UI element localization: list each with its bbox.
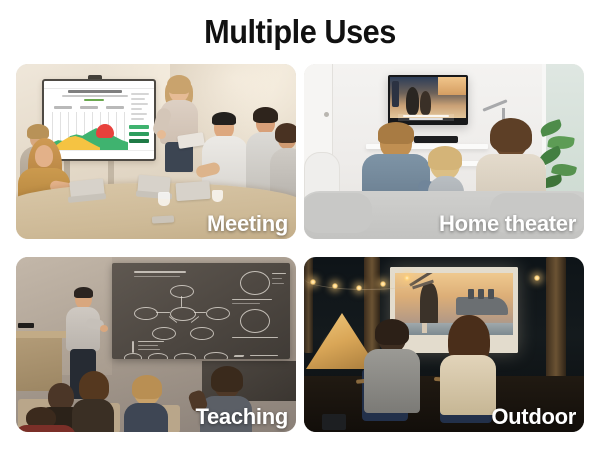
- panel-home-theater[interactable]: Home theater: [304, 64, 584, 239]
- lectern-device: [18, 323, 34, 328]
- student-5: [18, 407, 72, 432]
- lectern-top: [16, 331, 68, 338]
- mindmap-node-bottom-3: [174, 353, 196, 359]
- panel-meeting[interactable]: Meeting: [16, 64, 296, 239]
- mindmap-node-bl: [152, 327, 176, 340]
- panel-teaching[interactable]: Teaching: [16, 257, 296, 432]
- bulb-icon: [356, 285, 362, 291]
- outdoor-viewer-left: [366, 319, 418, 413]
- mindmap-node-right: [206, 307, 230, 320]
- bulb-icon: [404, 275, 410, 281]
- bulb-icon: [534, 275, 540, 281]
- mindmap-circle-big-2: [240, 309, 270, 333]
- ship-in-movie: [456, 297, 508, 315]
- dashboard-toolbar: [44, 81, 154, 89]
- mindmap-node-br: [190, 327, 214, 340]
- chart-series-red: [96, 124, 114, 138]
- presenter-figure: [156, 78, 202, 164]
- mindmap-node-bottom-4: [204, 352, 228, 359]
- bulb-icon: [380, 281, 386, 287]
- caption-home-theater: Home theater: [439, 211, 576, 237]
- dashboard-subtitle-line: [62, 95, 128, 97]
- student-3: [124, 377, 168, 432]
- movie-frame: [390, 77, 466, 118]
- wall-screen: [388, 75, 468, 125]
- screen-right-edge: [513, 267, 518, 353]
- dashboard-side-text: [131, 93, 149, 123]
- dashboard-title-line: [68, 90, 122, 93]
- door-knob-icon: [324, 112, 329, 117]
- mindmap-circle-big-1: [240, 271, 270, 295]
- page-title: Multiple Uses: [21, 12, 579, 52]
- coffee-cup: [212, 190, 223, 202]
- mindmap-node-bottom-2: [148, 353, 168, 359]
- mindmap-node-bottom-1: [124, 353, 142, 359]
- laptop-3: [175, 181, 210, 201]
- water-glass: [158, 192, 170, 206]
- attendee-right-3: [274, 124, 296, 198]
- poster-root: Multiple Uses: [0, 0, 600, 450]
- presenter-laptop: [177, 132, 205, 149]
- string-lights: [304, 265, 424, 295]
- projected-board: [112, 263, 290, 359]
- phone-on-table: [152, 215, 174, 223]
- caption-meeting: Meeting: [207, 211, 288, 237]
- mindmap-node-left: [134, 307, 158, 320]
- caption-teaching: Teaching: [195, 404, 288, 430]
- student-2: [72, 373, 114, 432]
- caption-outdoor: Outdoor: [491, 404, 576, 430]
- mindmap-node-top: [170, 285, 194, 298]
- bulb-icon: [332, 283, 338, 289]
- chart-legend: [129, 125, 149, 146]
- portable-power-station: [322, 414, 346, 430]
- dashboard-accent-line: [84, 99, 104, 101]
- outdoor-viewer-right: [440, 315, 496, 415]
- panel-outdoor[interactable]: Outdoor: [304, 257, 584, 432]
- use-case-grid: Meeting: [16, 64, 584, 432]
- dashboard-stat-row: [54, 106, 126, 109]
- sofa-cushion-left: [304, 193, 372, 233]
- movie-subtitles: [398, 114, 454, 121]
- bulb-icon: [310, 279, 316, 285]
